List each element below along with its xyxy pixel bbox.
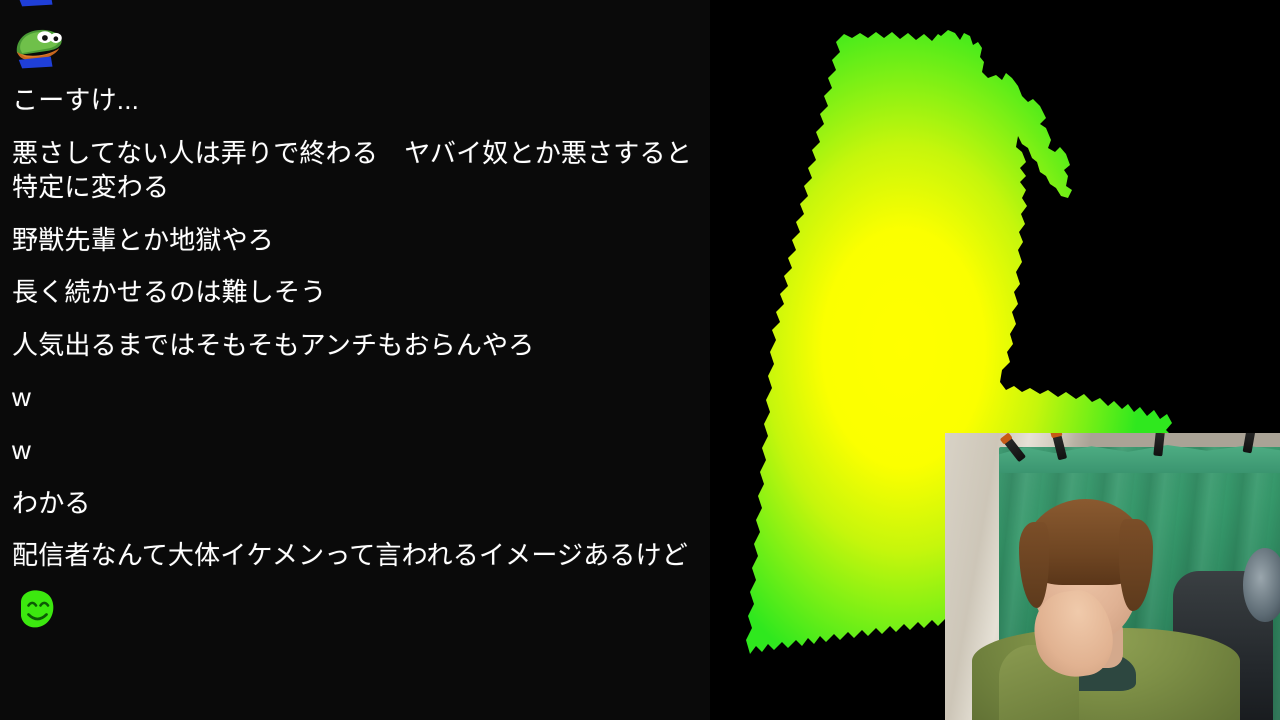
chat-panel[interactable]: こーすけ...悪さしてない人は弄りで終わる ヤバイ奴とか悪さすると特定に変わる野… <box>0 0 710 720</box>
chat-message: 配信者なんて大体イケメンって言われるイメージあるけど <box>12 529 698 582</box>
pepe-frog-emote <box>12 0 66 8</box>
chat-message: こーすけ... <box>12 74 698 127</box>
stream-stage: こーすけ...悪さしてない人は弄りで終わる ヤバイ奴とか悪さすると特定に変わる野… <box>0 0 1280 720</box>
chat-emote-row <box>12 582 698 644</box>
chat-message: w <box>12 424 698 477</box>
chat-message: 悪さしてない人は弄りで終わる ヤバイ奴とか悪さすると特定に変わる <box>12 127 698 214</box>
chat-message: w <box>12 371 698 424</box>
streamer-webcam[interactable] <box>945 433 1280 720</box>
chat-message: わかる <box>12 477 698 530</box>
chat-message-list[interactable]: こーすけ...悪さしてない人は弄りで終わる ヤバイ奴とか悪さすると特定に変わる野… <box>0 0 710 644</box>
chat-message: 野獣先輩とか地獄やろ <box>12 214 698 267</box>
chat-message: 人気出るまではそもそもアンチもおらんやろ <box>12 319 698 372</box>
pepe-frog-emote <box>12 16 66 70</box>
green-smile-blob-emote <box>12 586 66 640</box>
chat-emote-row <box>12 0 698 12</box>
webcam-microphone-icon <box>1243 548 1280 623</box>
chat-emote-row <box>12 12 698 74</box>
chat-message: 長く続かせるのは難しそう <box>12 266 698 319</box>
